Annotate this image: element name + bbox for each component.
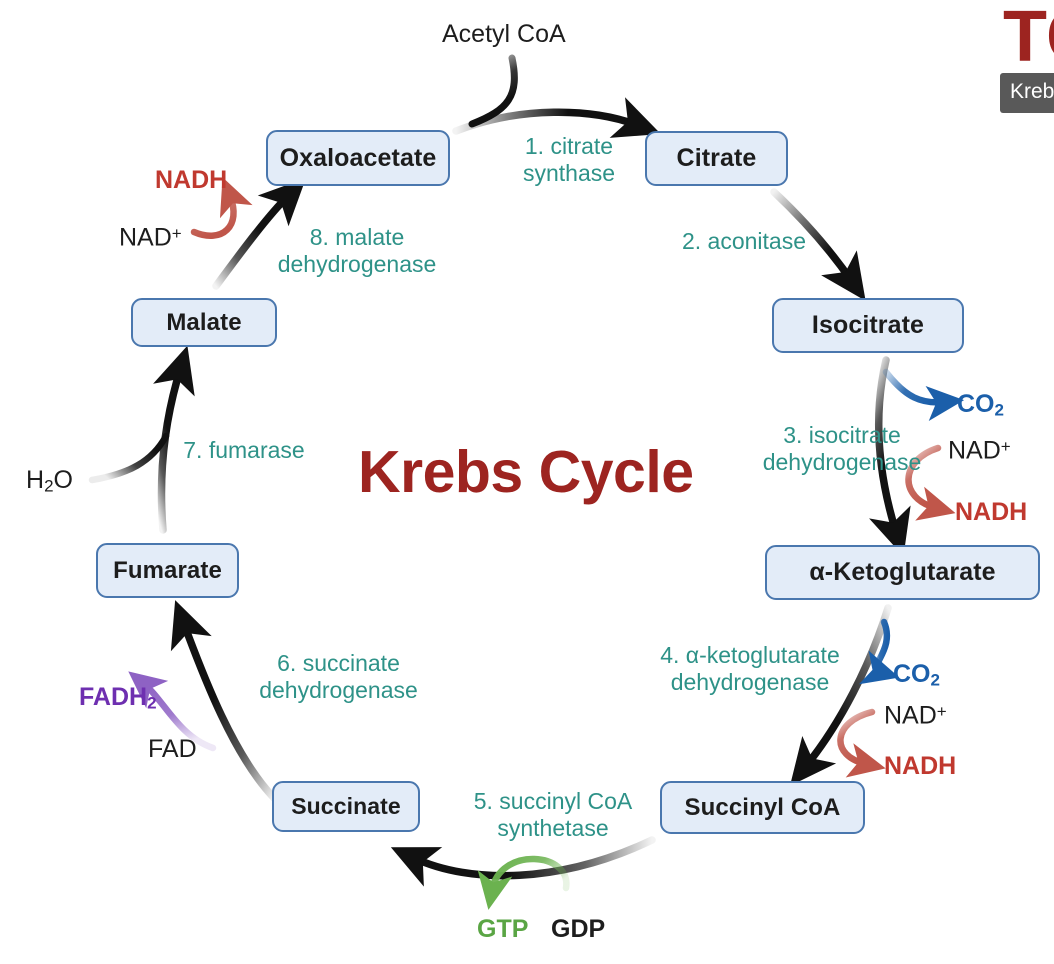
arrow-succinylcoa-to-succinate — [414, 840, 652, 876]
metabolite-label: α-Ketoglutarate — [809, 558, 995, 587]
enzyme-label-step-5: 5. succinyl CoA synthetase — [461, 788, 645, 842]
arrow-h2o-input — [92, 436, 166, 480]
arrow-acetyl-coa-input — [472, 58, 514, 124]
arrow-nad-to-nadh-step4 — [840, 712, 872, 764]
metabolite-label: Oxaloacetate — [280, 144, 437, 173]
metabolite-label: Malate — [166, 309, 241, 337]
cofactor-label-nadh-step4: NADH — [884, 754, 956, 779]
metabolite-box-alpha-ketoglutarate[interactable]: α-Ketoglutarate — [765, 545, 1040, 600]
cofactor-label-h2o: H2O — [26, 468, 73, 495]
metabolite-label: Isocitrate — [812, 311, 924, 340]
enzyme-label-step-2: 2. aconitase — [664, 228, 824, 255]
cofactor-label-fadh2: FADH2 — [79, 685, 157, 712]
cofactor-label-acetyl-coa: Acetyl CoA — [442, 22, 566, 47]
enzyme-label-step-6: 6. succinate dehydrogenase — [246, 650, 431, 704]
arrow-nad-to-nadh-step8 — [194, 196, 234, 236]
arrow-gdp-to-gtp — [492, 859, 566, 890]
metabolite-box-succinyl-coa[interactable]: Succinyl CoA — [660, 781, 865, 834]
cofactor-label-gtp: GTP — [477, 917, 528, 942]
cofactor-label-nad-plus-top: NAD+ — [119, 225, 182, 250]
metabolite-box-isocitrate[interactable]: Isocitrate — [772, 298, 964, 353]
krebs-cycle-diagram: Krebs Cycle TC Krebs OxaloacetateCitrate… — [0, 0, 1054, 964]
corner-heading-fragment: TC — [1003, 0, 1054, 78]
metabolite-label: Succinyl CoA — [685, 794, 841, 822]
cofactor-label-nadh-step3: NADH — [955, 500, 1027, 525]
cofactor-label-fad: FAD — [148, 737, 197, 762]
cofactor-label-co2-step3: CO2 — [957, 392, 1004, 419]
metabolite-box-oxaloacetate[interactable]: Oxaloacetate — [266, 130, 450, 186]
metabolite-box-malate[interactable]: Malate — [131, 298, 277, 347]
arrow-co2-release-step3 — [886, 372, 944, 402]
metabolite-box-succinate[interactable]: Succinate — [272, 781, 420, 832]
cofactor-label-co2-step4: CO2 — [893, 662, 940, 689]
arrow-co2-release-step4 — [876, 622, 887, 672]
cofactor-label-nad-plus-step4: NAD+ — [884, 703, 947, 728]
metabolite-box-citrate[interactable]: Citrate — [645, 131, 788, 186]
corner-tooltip-badge: Krebs — [1000, 73, 1054, 113]
cofactor-label-nad-plus-step3: NAD+ — [948, 438, 1011, 463]
metabolite-label: Succinate — [291, 793, 401, 820]
metabolite-label: Fumarate — [113, 557, 222, 585]
cofactor-label-gdp: GDP — [551, 917, 605, 942]
center-title: Krebs Cycle — [358, 438, 694, 506]
metabolite-label: Citrate — [677, 144, 757, 173]
enzyme-label-step-4: 4. α-ketoglutarate dehydrogenase — [644, 642, 856, 696]
cofactor-label-nadh-top: NADH — [155, 168, 227, 193]
enzyme-label-step-1: 1. citrate synthase — [494, 133, 644, 187]
arrow-oxaloacetate-to-citrate — [456, 112, 637, 131]
enzyme-label-step-8: 8. malate dehydrogenase — [261, 224, 453, 278]
metabolite-box-fumarate[interactable]: Fumarate — [96, 543, 239, 598]
enzyme-label-step-7: 7. fumarase — [169, 437, 319, 464]
enzyme-label-step-3: 3. isocitrate dehydrogenase — [742, 422, 942, 476]
